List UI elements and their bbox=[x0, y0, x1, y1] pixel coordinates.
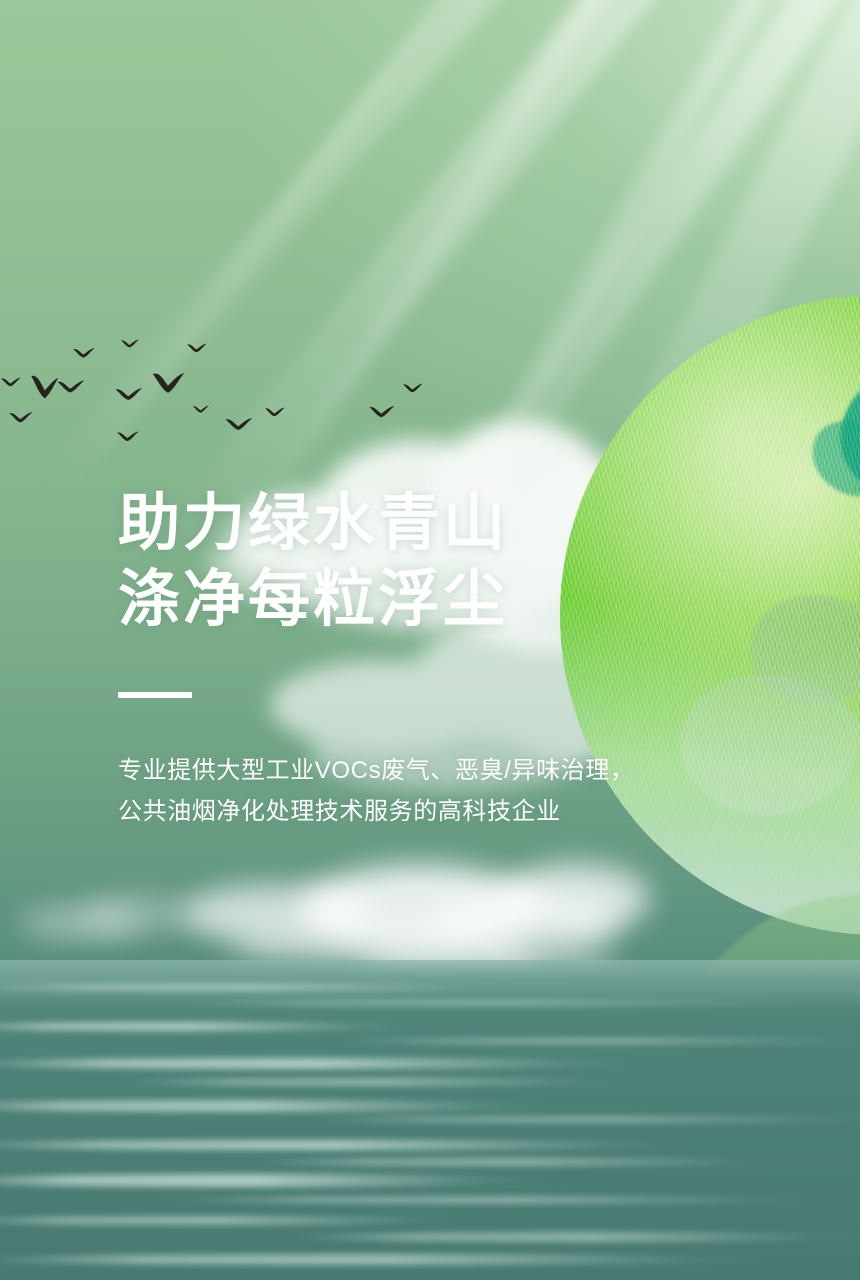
water-surface bbox=[0, 960, 860, 1280]
subtitle-line-1: 专业提供大型工业VOCs废气、恶臭/异味治理， bbox=[118, 750, 758, 791]
bird-icon bbox=[150, 370, 186, 396]
bird-icon bbox=[224, 416, 254, 435]
bird-icon bbox=[192, 404, 210, 416]
bird-icon bbox=[264, 406, 286, 420]
bird-icon bbox=[116, 430, 140, 445]
bird-icon bbox=[56, 378, 86, 398]
title-divider bbox=[118, 692, 192, 698]
poster-canvas: 助力绿水青山 涤净每粒浮尘 专业提供大型工业VOCs废气、恶臭/异味治理， 公共… bbox=[0, 0, 860, 1280]
bird-icon bbox=[0, 376, 22, 390]
headline-line-1: 助力绿水青山 bbox=[118, 486, 758, 562]
bird-flock bbox=[0, 330, 470, 460]
bird-icon bbox=[114, 386, 144, 405]
bird-icon bbox=[8, 410, 34, 427]
bird-icon bbox=[120, 338, 140, 351]
hero-text-block: 助力绿水青山 涤净每粒浮尘 专业提供大型工业VOCs废气、恶臭/异味治理， 公共… bbox=[118, 486, 758, 832]
bird-icon bbox=[368, 404, 396, 422]
cloud-layer-small-left bbox=[20, 880, 190, 970]
bird-icon bbox=[402, 382, 424, 396]
subtitle-line-2: 公共油烟净化处理技术服务的高科技企业 bbox=[118, 791, 758, 832]
bird-icon bbox=[186, 342, 208, 356]
headline-line-2: 涤净每粒浮尘 bbox=[118, 562, 758, 638]
bird-icon bbox=[72, 346, 96, 362]
